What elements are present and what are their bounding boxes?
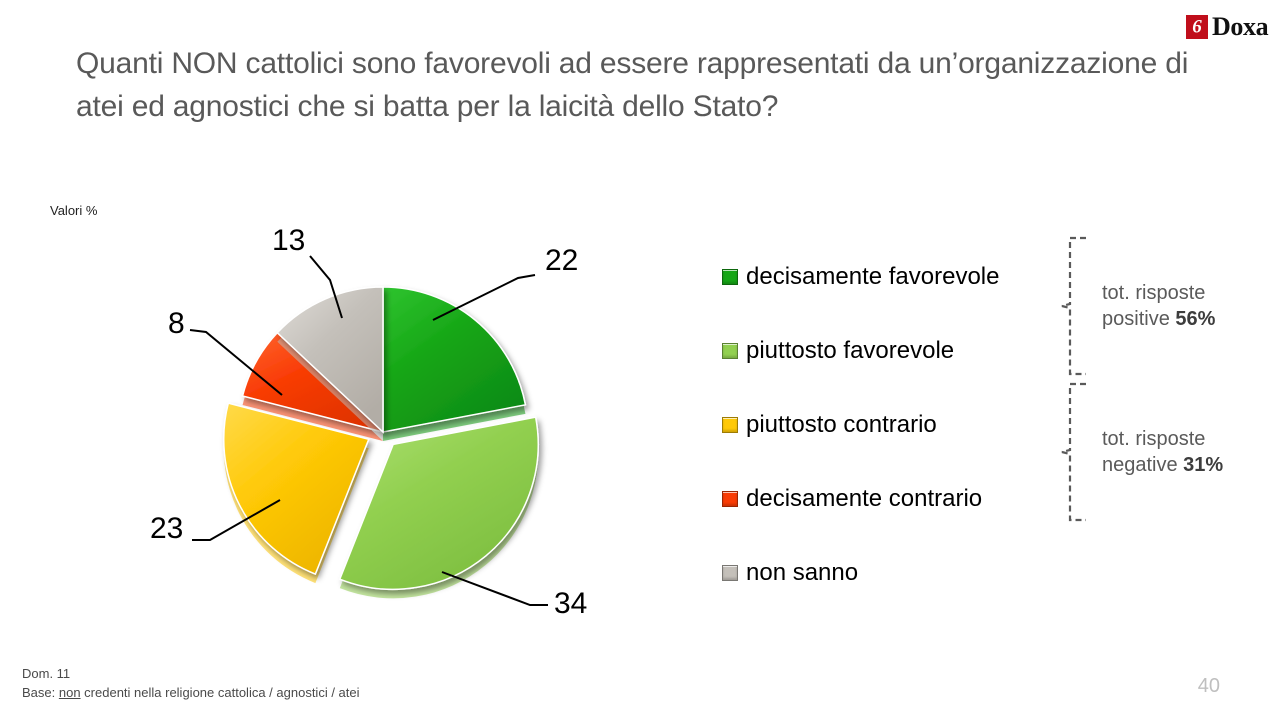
annotation-negative-value: 31% [1183,454,1223,476]
footer-note: Dom. 11 Base: non credenti nella religio… [22,664,360,702]
legend-item-label: piuttosto contrario [746,413,937,437]
annotation-positive-line1: tot. risposte [1102,282,1205,304]
page-title: Quanti NON cattolici sono favorevoli ad … [76,42,1196,128]
page-number: 40 [1198,675,1220,698]
pie-slice-1[interactable]: piuttosto favorevole 34% [340,417,538,589]
legend-item-3[interactable]: decisamente contrario [722,480,1062,517]
leader-line-1 [442,572,548,605]
annotation-positive-line2-prefix: positive [1102,308,1175,330]
annotation-negative-line2-prefix: negative [1102,454,1183,476]
doxa-logo-text: Doxa [1212,14,1268,40]
chart-units-label: Valori % [50,203,97,218]
legend-swatch-icon [722,343,738,359]
annotation-positive-value: 56% [1175,308,1215,330]
brace-icon-positive [1060,236,1090,376]
legend-item-label: decisamente favorevole [746,265,999,289]
legend-swatch-icon [722,565,738,581]
doxa-logo-icon [1186,15,1208,39]
legend-item-4[interactable]: non sanno [722,554,1062,591]
pie-slices: decisamente favorevole 22%piuttosto favo… [224,287,538,598]
legend-item-label: non sanno [746,561,858,585]
pie-chart: decisamente favorevole 22%piuttosto favo… [120,220,640,650]
legend-swatch-icon [722,269,738,285]
legend-item-label: piuttosto favorevole [746,339,954,363]
legend-swatch-icon [722,417,738,433]
pie-data-label-0: 22 [545,244,578,277]
pie-data-label-3: 8 [168,307,185,340]
slide-root: Doxa Quanti NON cattolici sono favorevol… [0,0,1280,720]
legend-item-1[interactable]: piuttosto favorevole [722,332,1062,369]
legend-item-label: decisamente contrario [746,487,982,511]
pie-chart-svg: decisamente favorevole 22%piuttosto favo… [120,220,640,650]
doxa-logo: Doxa [1186,14,1268,40]
chart-legend: decisamente favorevolepiuttosto favorevo… [722,258,1062,591]
pie-data-label-2: 23 [150,512,183,545]
footer-base-rest: credenti nella religione cattolica / agn… [81,685,360,700]
pie-data-label-1: 34 [554,587,587,620]
annotation-negative-line1: tot. risposte [1102,428,1205,450]
legend-swatch-icon [722,491,738,507]
brace-icon-negative [1060,382,1090,522]
leader-line-0 [433,275,535,320]
annotation-positive: tot. risposte positive 56% [1060,236,1215,376]
annotation-negative-text: tot. risposte negative 31% [1102,426,1223,478]
annotation-positive-text: tot. risposte positive 56% [1102,280,1215,332]
footer-base-underlined: non [59,685,81,700]
footer-line-2: Base: non credenti nella religione catto… [22,683,360,702]
pie-data-label-4: 13 [272,224,305,257]
footer-base-prefix: Base: [22,685,59,700]
footer-line-1: Dom. 11 [22,664,360,683]
legend-item-0[interactable]: decisamente favorevole [722,258,1062,295]
annotation-negative: tot. risposte negative 31% [1060,382,1223,522]
legend-item-2[interactable]: piuttosto contrario [722,406,1062,443]
